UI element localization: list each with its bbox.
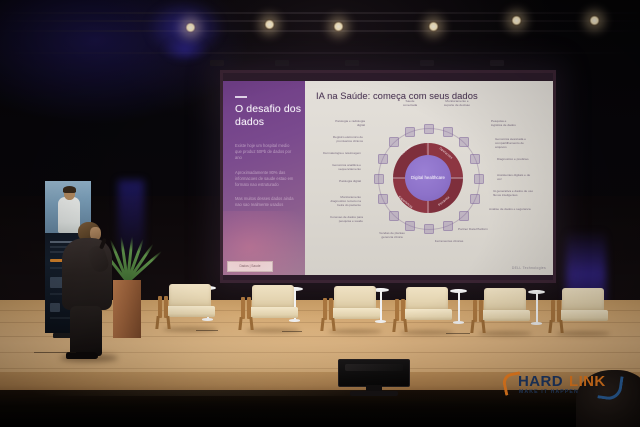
- confidence-monitor: [338, 359, 410, 397]
- floor-cable: [446, 333, 470, 334]
- floor-cable: [34, 352, 76, 353]
- monitor-base: [350, 391, 398, 396]
- screen-frame: [220, 70, 556, 283]
- rig-fixture: [210, 60, 224, 66]
- floor-cable: [282, 331, 302, 332]
- spotlight-icon: [428, 21, 439, 32]
- floor-cable: [196, 330, 218, 331]
- spotlight-icon: [333, 21, 344, 32]
- watermark-tagline: MAKE IT HAPPEN: [519, 389, 579, 395]
- hardlink-watermark: HARD LINK MAKE IT HAPPEN: [503, 369, 623, 399]
- spotlight-icon: [185, 22, 196, 33]
- rig-fixture: [420, 60, 434, 66]
- rig-fixture: [345, 60, 359, 66]
- doctor-hair: [63, 186, 76, 193]
- spotlight-icon: [589, 15, 600, 26]
- lighting-truss: [0, 12, 640, 14]
- projection-screen: O desafio dos dados Existe hoje um hospi…: [220, 70, 556, 283]
- monitor-reflection: [345, 364, 403, 371]
- watermark-brand-first: HARD: [518, 373, 563, 390]
- lighting-truss: [0, 20, 640, 22]
- presenter-torso: [62, 238, 112, 310]
- spotlight-icon: [511, 15, 522, 26]
- spotlight-icon: [264, 19, 275, 30]
- conference-stage-photo: O desafio dos dados Existe hoje um hospi…: [0, 0, 640, 427]
- lighting-truss: [0, 52, 640, 54]
- monitor-screen: [338, 359, 410, 387]
- plant-pot: [113, 280, 141, 338]
- presenter-legs: [70, 306, 102, 356]
- presenter: [60, 222, 116, 362]
- rig-fixture: [275, 60, 289, 66]
- presenter-shoes: [66, 352, 98, 359]
- arc-icon: [597, 374, 623, 402]
- lighting-truss: [0, 30, 640, 32]
- rig-fixture: [490, 60, 504, 66]
